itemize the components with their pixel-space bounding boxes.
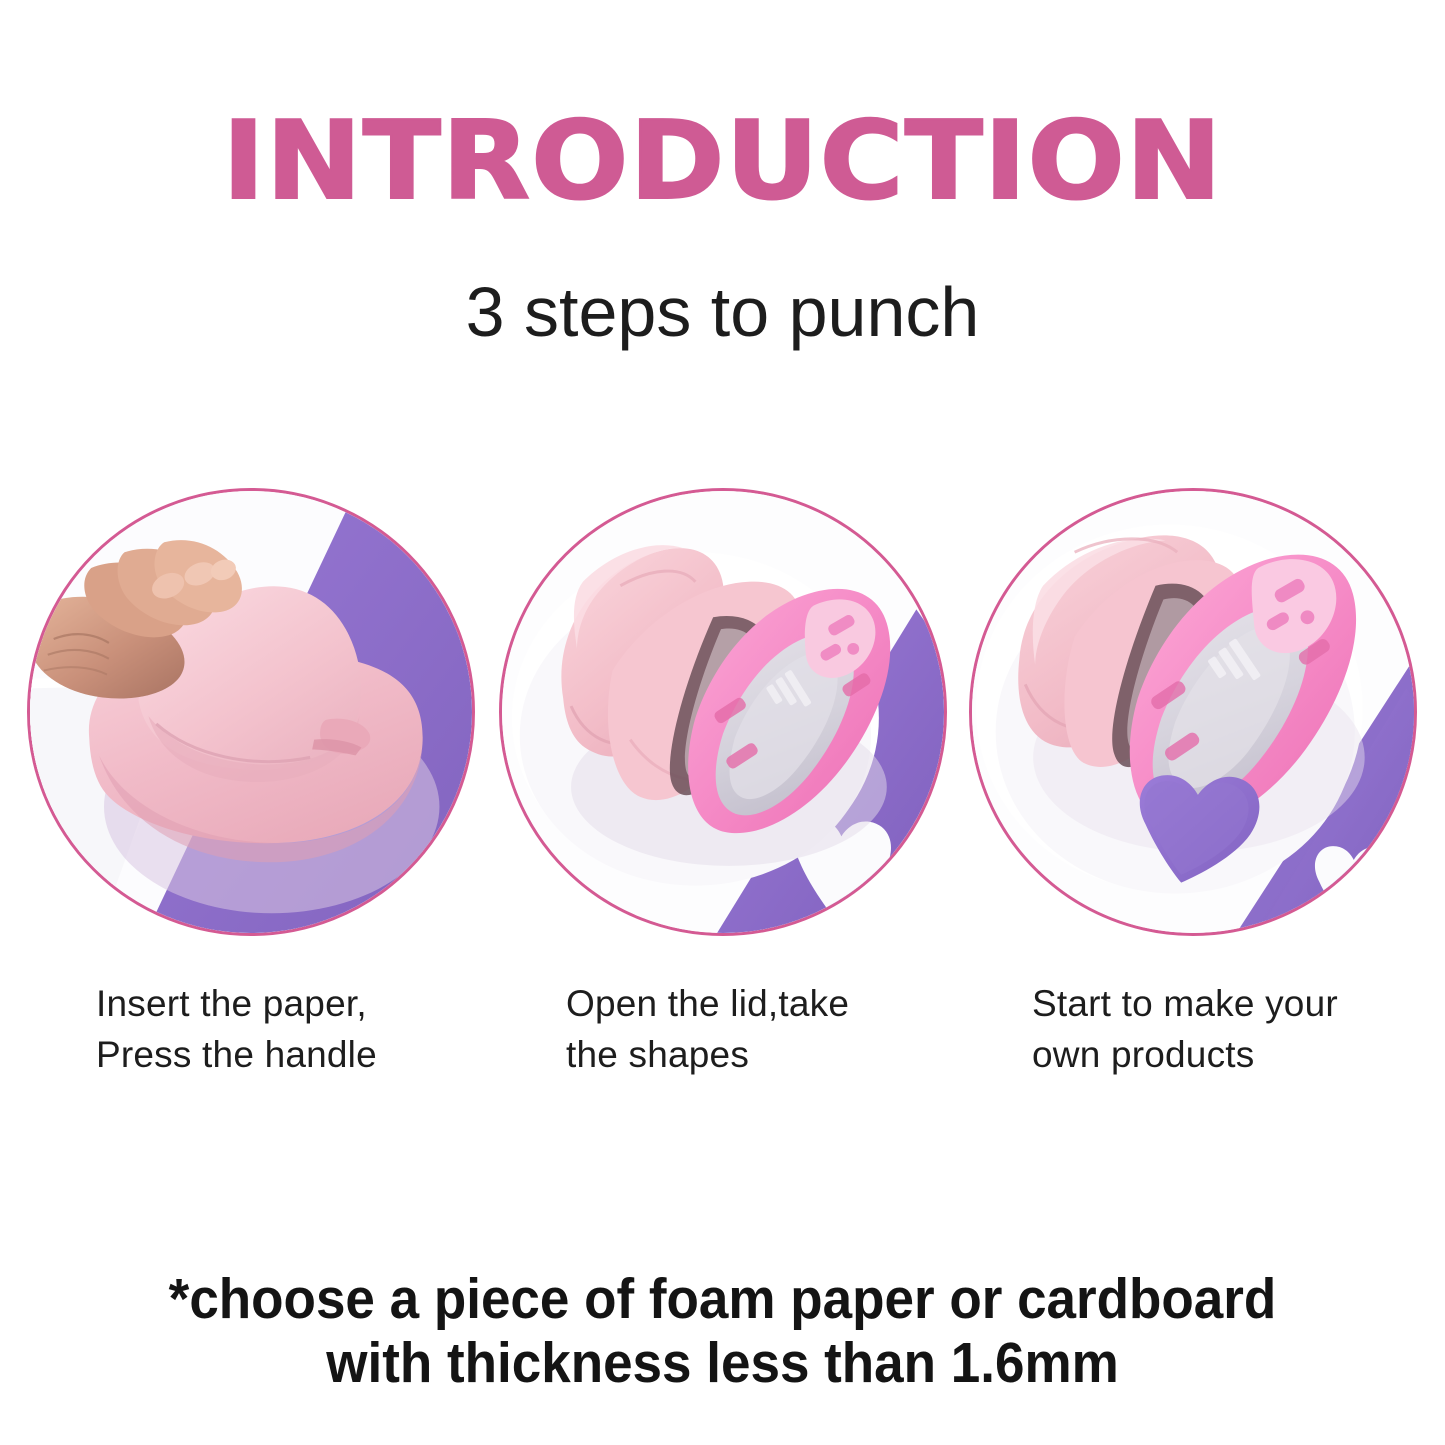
step-1-caption-line-1: Insert the paper, bbox=[96, 978, 484, 1029]
step-3: Start to make your own products bbox=[960, 488, 1426, 1088]
introduction-graphic: INTRODUCTION 3 steps to punch bbox=[0, 0, 1445, 1445]
step-2-caption: Open the lid,take the shapes bbox=[490, 978, 956, 1080]
photo-hand-pressing-punch bbox=[27, 488, 475, 936]
step-2-caption-line-2: the shapes bbox=[566, 1029, 956, 1080]
photo-punch-lid-open bbox=[499, 488, 947, 936]
step-1: Insert the paper, Press the handle bbox=[18, 488, 484, 1088]
step-1-caption: Insert the paper, Press the handle bbox=[18, 978, 484, 1080]
step-1-caption-line-2: Press the handle bbox=[96, 1029, 484, 1080]
steps-row: Insert the paper, Press the handle bbox=[0, 488, 1445, 1088]
footnote: *choose a piece of foam paper or cardboa… bbox=[51, 1268, 1395, 1396]
step-3-caption-line-2: own products bbox=[1032, 1029, 1426, 1080]
photo-punched-heart-shape bbox=[969, 488, 1417, 936]
page-subtitle: 3 steps to punch bbox=[0, 276, 1445, 350]
step-3-caption-line-1: Start to make your bbox=[1032, 978, 1426, 1029]
page-title: INTRODUCTION bbox=[0, 108, 1445, 216]
step-2: Open the lid,take the shapes bbox=[490, 488, 956, 1088]
footnote-line-2: with thickness less than 1.6mm bbox=[51, 1332, 1395, 1396]
footnote-line-1: *choose a piece of foam paper or cardboa… bbox=[51, 1268, 1395, 1332]
step-2-caption-line-1: Open the lid,take bbox=[566, 978, 956, 1029]
step-3-caption: Start to make your own products bbox=[960, 978, 1426, 1080]
